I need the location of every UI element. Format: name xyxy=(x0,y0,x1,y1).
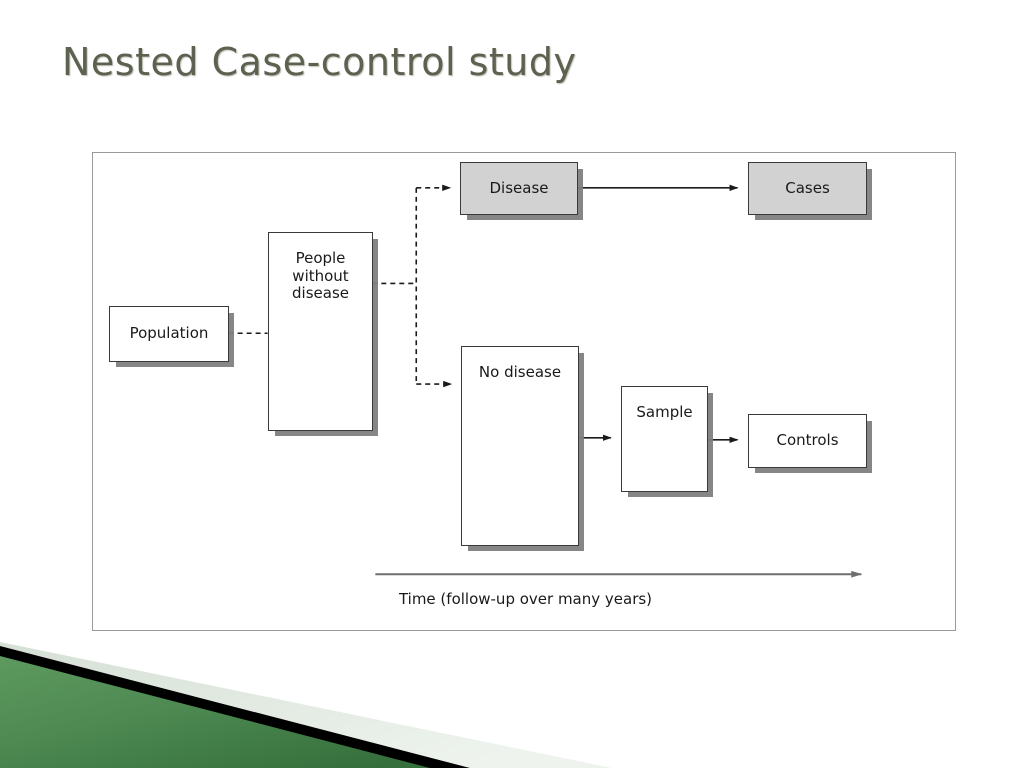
flow-box-population[interactable]: Population xyxy=(109,306,229,362)
flow-box-people-without-disease[interactable]: People without disease xyxy=(268,232,373,431)
flow-box-people-without-disease-label: People without disease xyxy=(269,250,372,303)
decoration-green-triangle xyxy=(0,656,430,768)
page-title: Nested Case-control study xyxy=(62,40,576,84)
flow-box-no-disease-label: No disease xyxy=(462,364,578,382)
flow-box-sample-label: Sample xyxy=(622,404,707,422)
flow-box-controls[interactable]: Controls xyxy=(748,414,867,468)
diagram-frame: Population People without disease Diseas… xyxy=(92,152,956,631)
decoration-black-stripe xyxy=(0,646,470,768)
flow-box-disease-label: Disease xyxy=(461,180,577,198)
flow-box-disease[interactable]: Disease xyxy=(460,162,578,215)
flow-box-no-disease[interactable]: No disease xyxy=(461,346,579,546)
decoration-pale-triangle xyxy=(0,642,612,768)
flow-box-cases-label: Cases xyxy=(749,180,866,198)
flow-box-population-label: Population xyxy=(110,325,228,343)
flow-box-controls-label: Controls xyxy=(749,432,866,450)
flow-box-sample[interactable]: Sample xyxy=(621,386,708,492)
flow-box-cases[interactable]: Cases xyxy=(748,162,867,215)
time-axis-caption: Time (follow-up over many years) xyxy=(373,590,678,608)
corner-decoration xyxy=(0,638,640,768)
